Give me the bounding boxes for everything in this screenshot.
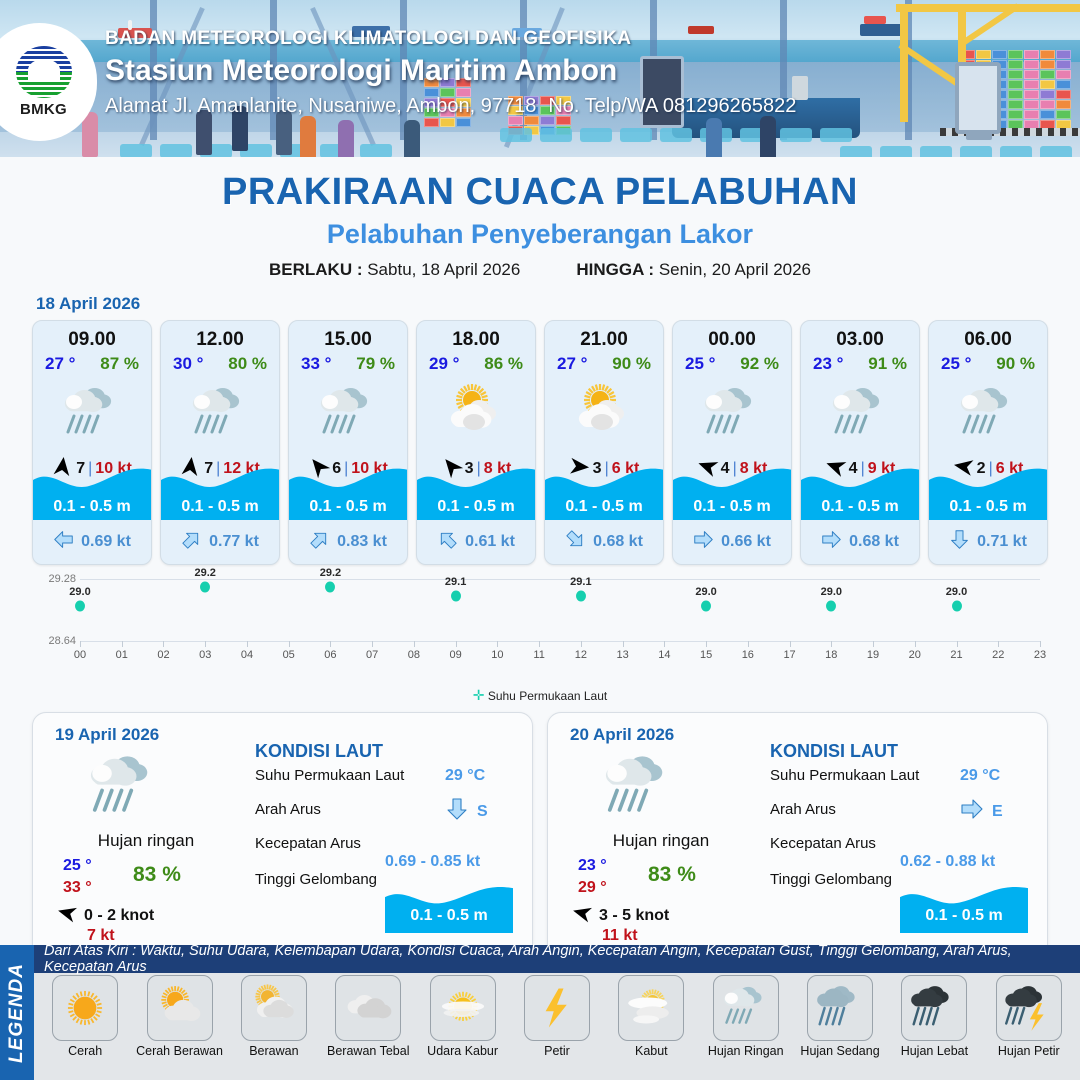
hourly-card: 21.00 27 ° 90 % 3 | 6 kt 0.1 - 0.5 m 0.6… [544, 320, 664, 565]
daily-wind-direction-arrow-icon [57, 903, 77, 928]
card-current-speed: 0.77 kt [209, 533, 259, 551]
legend-icon-moderate-rain [807, 975, 873, 1041]
hourly-card: 00.00 25 ° 92 % 4 | 8 kt 0.1 - 0.5 m 0.6… [672, 320, 792, 565]
chart-xtick-mark [247, 641, 248, 647]
chart-xtick-label: 19 [867, 649, 879, 661]
hourly-card: 15.00 33 ° 79 % 6 | 10 kt 0.1 - 0.5 m 0.… [288, 320, 408, 565]
daily-sst-value: 29 °C [960, 767, 1000, 785]
chart-xtick-label: 22 [992, 649, 1004, 661]
sst-chart-ytick-max: 29.28 [32, 573, 76, 585]
card-humidity: 87 % [100, 354, 139, 374]
card-current-direction-arrow-icon [181, 529, 202, 555]
daily-row-label: Suhu Permukaan Laut [255, 767, 404, 784]
card-weather-icon-partly-sunny [545, 376, 663, 452]
chart-xtick-mark [414, 641, 415, 647]
card-weather-icon-light-rain [161, 376, 279, 452]
chart-xtick-label: 10 [491, 649, 503, 661]
daily-forecast-panel: 19 April 2026 Hujan ringan 25 ° 33 ° 83 … [32, 712, 533, 958]
card-humidity: 91 % [868, 354, 907, 374]
sst-chart-legend: ✛ Suhu Permukaan Laut [0, 687, 1080, 704]
chart-xtick-label: 01 [116, 649, 128, 661]
card-current-speed: 0.69 kt [81, 533, 131, 551]
sst-legend-marker-icon: ✛ [473, 687, 485, 703]
legend-icon-sunny [52, 975, 118, 1041]
chart-xtick-label: 12 [575, 649, 587, 661]
daily-row-label: Kecepatan Arus [770, 835, 876, 852]
card-wave-height: 0.1 - 0.5 m [673, 498, 791, 516]
daily-temp-min: 25 ° [63, 855, 92, 877]
card-wave-height: 0.1 - 0.5 m [545, 498, 663, 516]
chart-data-point [325, 581, 335, 592]
daily-wind-speed: 3 - 5 knot [599, 907, 669, 925]
daily-temp-max: 33 ° [63, 877, 92, 899]
chart-data-point [701, 601, 711, 612]
hourly-card: 03.00 23 ° 91 % 4 | 9 kt 0.1 - 0.5 m 0.6… [800, 320, 920, 565]
daily-current-direction-arrow-icon [445, 797, 469, 826]
legend-bar: LEGENDA Dari Atas Kiri : Waktu, Suhu Uda… [0, 945, 1080, 1080]
daily-condition: Hujan ringan [566, 831, 756, 851]
hourly-card: 06.00 25 ° 90 % 2 | 6 kt 0.1 - 0.5 m 0.7… [928, 320, 1048, 565]
legend-item: Cerah Berawan [134, 975, 226, 1058]
validity-from: BERLAKU : Sabtu, 18 April 2026 [269, 260, 520, 280]
card-time: 18.00 [417, 329, 535, 351]
sst-chart-ytick-min: 28.64 [32, 635, 76, 647]
chart-xtick-mark [1040, 641, 1041, 647]
sst-legend-label: Suhu Permukaan Laut [488, 689, 607, 703]
chart-xtick-mark [289, 641, 290, 647]
chart-data-label: 29.0 [946, 586, 967, 598]
card-wave-height: 0.1 - 0.5 m [801, 498, 919, 516]
card-current-speed: 0.83 kt [337, 533, 387, 551]
legend-item-label: Hujan Petir [983, 1044, 1075, 1058]
card-weather-icon-light-rain [33, 376, 151, 452]
legend-item-label: Kabut [605, 1044, 697, 1058]
daily-sea-title: KONDISI LAUT [255, 741, 383, 762]
chart-data-label: 29.2 [320, 567, 341, 579]
daily-current-speed: 0.62 - 0.88 kt [900, 853, 995, 871]
card-weather-icon-light-rain [801, 376, 919, 452]
hourly-date-label: 18 April 2026 [36, 294, 1080, 314]
legend-icon-list: Cerah Cerah Berawan Berawan Berawan Teba… [34, 975, 1080, 1058]
card-wave-height: 0.1 - 0.5 m [417, 498, 535, 516]
chart-xtick-mark [330, 641, 331, 647]
hourly-card: 12.00 30 ° 80 % 7 | 12 kt 0.1 - 0.5 m 0.… [160, 320, 280, 565]
card-current-direction-arrow-icon [309, 529, 330, 555]
chart-xtick-label: 20 [909, 649, 921, 661]
daily-forecast-row: 19 April 2026 Hujan ringan 25 ° 33 ° 83 … [0, 704, 1080, 958]
daily-row-label: Kecepatan Arus [255, 835, 361, 852]
daily-wave-height: 0.1 - 0.5 m [900, 907, 1028, 925]
daily-weather-icon-light-rain [600, 749, 678, 832]
card-time: 00.00 [673, 329, 791, 351]
page-title: PRAKIRAAN CUACA PELABUHAN [0, 171, 1080, 214]
chart-gridline [80, 579, 1040, 580]
card-humidity: 92 % [740, 354, 779, 374]
chart-xtick-label: 23 [1034, 649, 1046, 661]
daily-weather-icon-light-rain [85, 749, 163, 832]
chart-xtick-mark [623, 641, 624, 647]
hourly-card: 09.00 27 ° 87 % 7 | 10 kt 0.1 - 0.5 m 0.… [32, 320, 152, 565]
daily-condition: Hujan ringan [51, 831, 241, 851]
hourly-card: 18.00 29 ° 86 % 3 | 8 kt 0.1 - 0.5 m 0.6… [416, 320, 536, 565]
chart-xtick-mark [581, 641, 582, 647]
legend-icon-light-rain [713, 975, 779, 1041]
daily-humidity: 83 % [648, 863, 696, 887]
legend-item: Hujan Lebat [888, 975, 980, 1058]
card-current-speed: 0.68 kt [849, 533, 899, 551]
chart-xtick-label: 07 [366, 649, 378, 661]
chart-xtick-mark [80, 641, 81, 647]
daily-wind-direction-arrow-icon [572, 903, 592, 928]
daily-wind-speed: 0 - 2 knot [84, 907, 154, 925]
chart-xtick-mark [790, 641, 791, 647]
station-address: Alamat Jl. Amanlanite, Nusaniwe, Ambon, … [105, 95, 536, 117]
chart-data-point [576, 591, 586, 602]
daily-humidity: 83 % [133, 863, 181, 887]
card-current-direction-arrow-icon [53, 529, 74, 555]
legend-side-label: LEGENDA [0, 945, 34, 1080]
chart-xtick-mark [539, 641, 540, 647]
card-temperature: 23 ° [813, 354, 843, 374]
chart-xtick-label: 06 [324, 649, 336, 661]
validity-to: HINGGA : Senin, 20 April 2026 [576, 260, 811, 280]
chart-xtick-label: 09 [450, 649, 462, 661]
chart-xtick-label: 16 [742, 649, 754, 661]
card-current-direction-arrow-icon [949, 529, 970, 555]
legend-icon-thunder-rain [996, 975, 1062, 1041]
chart-xtick-label: 13 [616, 649, 628, 661]
legend-item-label: Cerah Berawan [134, 1044, 226, 1058]
card-humidity: 80 % [228, 354, 267, 374]
sst-chart-plot: 0001020304050607080910111213141516171819… [80, 579, 1040, 647]
bmkg-logo-icon [16, 46, 72, 98]
chart-data-point [75, 601, 85, 612]
station-name: Stasiun Meteorologi Maritim Ambon [105, 54, 796, 88]
legend-item-label: Hujan Sedang [794, 1044, 886, 1058]
chart-xtick-label: 17 [783, 649, 795, 661]
chart-xtick-mark [664, 641, 665, 647]
page-subtitle: Pelabuhan Penyeberangan Lakor [0, 219, 1080, 250]
card-current-speed: 0.66 kt [721, 533, 771, 551]
legend-item: Kabut [605, 975, 697, 1058]
chart-xtick-mark [372, 641, 373, 647]
daily-forecast-panel: 20 April 2026 Hujan ringan 23 ° 29 ° 83 … [547, 712, 1048, 958]
legend-item-label: Udara Kabur [417, 1044, 509, 1058]
card-time: 15.00 [289, 329, 407, 351]
daily-wave-height: 0.1 - 0.5 m [385, 907, 513, 925]
daily-row-label: Arah Arus [255, 801, 321, 818]
validity-to-value: Senin, 20 April 2026 [659, 260, 811, 279]
chart-xtick-mark [163, 641, 164, 647]
card-humidity: 86 % [484, 354, 523, 374]
validity-from-value: Sabtu, 18 April 2026 [367, 260, 520, 279]
daily-date: 19 April 2026 [55, 725, 159, 745]
legend-icon-cloudy [241, 975, 307, 1041]
card-wave-height: 0.1 - 0.5 m [289, 498, 407, 516]
legend-item: Hujan Petir [983, 975, 1075, 1058]
chart-xtick-mark [122, 641, 123, 647]
daily-current-direction-value: E [992, 803, 1003, 821]
chart-data-point [952, 601, 962, 612]
daily-sea-title: KONDISI LAUT [770, 741, 898, 762]
legend-item: Berawan [228, 975, 320, 1058]
legend-icon-thunder [524, 975, 590, 1041]
chart-data-label: 29.1 [445, 576, 466, 588]
chart-xtick-label: 11 [533, 649, 544, 661]
card-time: 06.00 [929, 329, 1047, 351]
chart-xtick-mark [497, 641, 498, 647]
card-current-speed: 0.68 kt [593, 533, 643, 551]
legend-icon-heavy-rain [901, 975, 967, 1041]
title-block: PRAKIRAAN CUACA PELABUHAN Pelabuhan Peny… [0, 157, 1080, 280]
chart-data-label: 29.0 [821, 586, 842, 598]
chart-xtick-label: 00 [74, 649, 86, 661]
chart-data-label: 29.1 [570, 576, 591, 588]
chart-xtick-mark [998, 641, 999, 647]
agency-name: BADAN METEOROLOGI KLIMATOLOGI DAN GEOFIS… [105, 28, 796, 50]
sst-chart: 0001020304050607080910111213141516171819… [32, 579, 1048, 679]
card-humidity: 90 % [612, 354, 651, 374]
legend-note: Dari Atas Kiri : Waktu, Suhu Udara, Kele… [34, 945, 1080, 973]
card-humidity: 79 % [356, 354, 395, 374]
card-weather-icon-light-rain [673, 376, 791, 452]
daily-sst-value: 29 °C [445, 767, 485, 785]
legend-item-label: Berawan Tebal [322, 1044, 414, 1058]
legend-item-label: Hujan Lebat [888, 1044, 980, 1058]
card-current-speed: 0.71 kt [977, 533, 1027, 551]
card-current-direction-arrow-icon [693, 529, 714, 555]
chart-gridline [80, 641, 1040, 642]
validity-from-label: BERLAKU : [269, 260, 363, 279]
legend-item-label: Cerah [39, 1044, 131, 1058]
chart-data-label: 29.0 [69, 586, 90, 598]
legend-item-label: Petir [511, 1044, 603, 1058]
chart-xtick-mark [748, 641, 749, 647]
card-time: 21.00 [545, 329, 663, 351]
daily-wave-graphic: 0.1 - 0.5 m [900, 881, 1028, 933]
card-weather-icon-light-rain [929, 376, 1047, 452]
chart-xtick-mark [706, 641, 707, 647]
daily-row-label: Tinggi Gelombang [770, 871, 892, 888]
card-temperature: 30 ° [173, 354, 203, 374]
card-time: 09.00 [33, 329, 151, 351]
daily-temp-min: 23 ° [578, 855, 607, 877]
daily-row-label: Tinggi Gelombang [255, 871, 377, 888]
legend-icon-fog [618, 975, 684, 1041]
legend-icon-overcast [335, 975, 401, 1041]
chart-xtick-label: 18 [825, 649, 837, 661]
card-current-direction-arrow-icon [565, 529, 586, 555]
card-temperature: 27 ° [557, 354, 587, 374]
legend-item: Udara Kabur [417, 975, 509, 1058]
card-wave-height: 0.1 - 0.5 m [33, 498, 151, 516]
validity-to-label: HINGGA : [576, 260, 654, 279]
card-current-direction-arrow-icon [437, 529, 458, 555]
chart-xtick-label: 03 [199, 649, 211, 661]
card-temperature: 25 ° [685, 354, 715, 374]
chart-xtick-mark [957, 641, 958, 647]
chart-data-point [826, 601, 836, 612]
card-humidity: 90 % [996, 354, 1035, 374]
station-phone: No. Telp/WA 081296265822 [548, 95, 796, 117]
daily-current-direction: S [445, 797, 488, 826]
card-time: 03.00 [801, 329, 919, 351]
bmkg-logo-text: BMKG [20, 101, 67, 118]
chart-xtick-mark [831, 641, 832, 647]
daily-current-speed: 0.69 - 0.85 kt [385, 853, 480, 871]
chart-xtick-label: 05 [283, 649, 295, 661]
legend-item-label: Hujan Ringan [700, 1044, 792, 1058]
card-wave-height: 0.1 - 0.5 m [161, 498, 279, 516]
card-temperature: 29 ° [429, 354, 459, 374]
page-header: BMKG BADAN METEOROLOGI KLIMATOLOGI DAN G… [0, 0, 1080, 157]
daily-row-label: Arah Arus [770, 801, 836, 818]
legend-item: Petir [511, 975, 603, 1058]
legend-icon-haze [430, 975, 496, 1041]
chart-data-point [451, 591, 461, 602]
card-current-direction-arrow-icon [821, 529, 842, 555]
legend-icon-sunny-cloudy [147, 975, 213, 1041]
card-temperature: 25 ° [941, 354, 971, 374]
legend-item: Hujan Sedang [794, 975, 886, 1058]
chart-xtick-mark [456, 641, 457, 647]
chart-data-label: 29.2 [194, 567, 215, 579]
daily-current-direction-value: S [477, 803, 488, 821]
card-temperature: 33 ° [301, 354, 331, 374]
chart-data-label: 29.0 [695, 586, 716, 598]
chart-data-point [200, 581, 210, 592]
chart-xtick-label: 04 [241, 649, 253, 661]
card-current-speed: 0.61 kt [465, 533, 515, 551]
daily-current-direction: E [960, 797, 1003, 826]
legend-item: Cerah [39, 975, 131, 1058]
chart-xtick-label: 21 [950, 649, 962, 661]
chart-xtick-mark [915, 641, 916, 647]
chart-xtick-label: 14 [658, 649, 670, 661]
card-wave-height: 0.1 - 0.5 m [929, 498, 1047, 516]
daily-row-label: Suhu Permukaan Laut [770, 767, 919, 784]
card-time: 12.00 [161, 329, 279, 351]
card-weather-icon-partly-sunny [417, 376, 535, 452]
legend-item: Hujan Ringan [700, 975, 792, 1058]
daily-temp-max: 29 ° [578, 877, 607, 899]
card-temperature: 27 ° [45, 354, 75, 374]
legend-item-label: Berawan [228, 1044, 320, 1058]
legend-item: Berawan Tebal [322, 975, 414, 1058]
daily-current-direction-arrow-icon [960, 797, 984, 826]
chart-xtick-label: 02 [157, 649, 169, 661]
daily-date: 20 April 2026 [570, 725, 674, 745]
chart-xtick-label: 08 [408, 649, 420, 661]
chart-xtick-mark [205, 641, 206, 647]
card-weather-icon-light-rain [289, 376, 407, 452]
chart-xtick-label: 15 [700, 649, 712, 661]
hourly-forecast-row: 09.00 27 ° 87 % 7 | 10 kt 0.1 - 0.5 m 0.… [0, 320, 1080, 565]
chart-xtick-mark [873, 641, 874, 647]
daily-wave-graphic: 0.1 - 0.5 m [385, 881, 513, 933]
